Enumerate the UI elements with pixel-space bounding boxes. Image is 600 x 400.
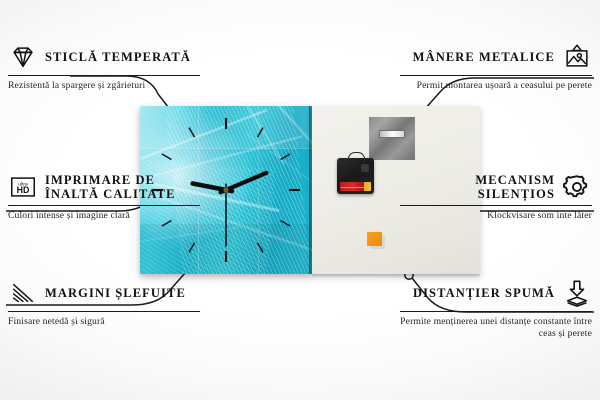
feature-silent-mechanism: MECANISM SILENȚIOS Klockvisare som inte … xyxy=(400,172,592,222)
feature-subtitle: Permite menținerea unei distanțe constan… xyxy=(400,316,592,339)
feature-foam-spacer: DISTANȚIER SPUMĂ Permite menținerea unei… xyxy=(400,278,592,339)
infographic-canvas: STICLĂ TEMPERATĂ Rezistentă la spargere … xyxy=(0,0,600,400)
feature-title: MÂNERE METALICE xyxy=(400,50,555,65)
diamond-icon xyxy=(8,42,38,72)
hanger-loop xyxy=(348,152,365,161)
metal-hanger-plate xyxy=(369,117,415,160)
feature-subtitle: Rezistentă la spargere și zgârieturi xyxy=(8,80,200,92)
feature-title: DISTANȚIER SPUMĂ xyxy=(400,286,555,301)
feature-title: IMPRIMARE DE ÎNALTĂ CALITATE xyxy=(45,173,200,202)
foam-spacer xyxy=(367,232,382,246)
feature-subtitle: Permit montarea ușoară a ceasului pe per… xyxy=(400,80,592,92)
feature-subtitle: Finisare netedă și sigură xyxy=(8,316,200,328)
feature-high-quality-print: ultra HD IMPRIMARE DE ÎNALTĂ CALITATE Cu… xyxy=(8,172,200,222)
ultra-hd-icon: ultra HD xyxy=(8,172,38,202)
mechanism-knob xyxy=(361,164,369,172)
feature-title: MARGINI ȘLEFUITE xyxy=(45,286,200,301)
feature-polished-edges: MARGINI ȘLEFUITE Finisare netedă și sigu… xyxy=(8,278,200,328)
feature-subtitle: Culori intense și imagine clară xyxy=(8,210,200,222)
feature-subtitle: Klockvisare som inte låter xyxy=(400,210,592,222)
divider xyxy=(400,311,592,312)
feature-title: MECANISM SILENȚIOS xyxy=(400,173,555,202)
gear-icon xyxy=(562,172,592,202)
feature-title: STICLĂ TEMPERATĂ xyxy=(45,50,200,65)
clock-mechanism xyxy=(337,158,374,194)
divider xyxy=(400,75,592,76)
svg-text:HD: HD xyxy=(17,185,30,195)
divider xyxy=(8,75,200,76)
press-down-icon xyxy=(562,278,592,308)
beveled-edge-icon xyxy=(8,278,38,308)
clock-center-pin xyxy=(223,187,228,192)
divider xyxy=(8,311,200,312)
feature-tempered-glass: STICLĂ TEMPERATĂ Rezistentă la spargere … xyxy=(8,42,200,92)
feature-metal-handles: MÂNERE METALICE Permit montarea ușoară a… xyxy=(400,42,592,92)
divider xyxy=(8,205,200,206)
divider xyxy=(400,205,592,206)
hanging-picture-icon xyxy=(562,42,592,72)
